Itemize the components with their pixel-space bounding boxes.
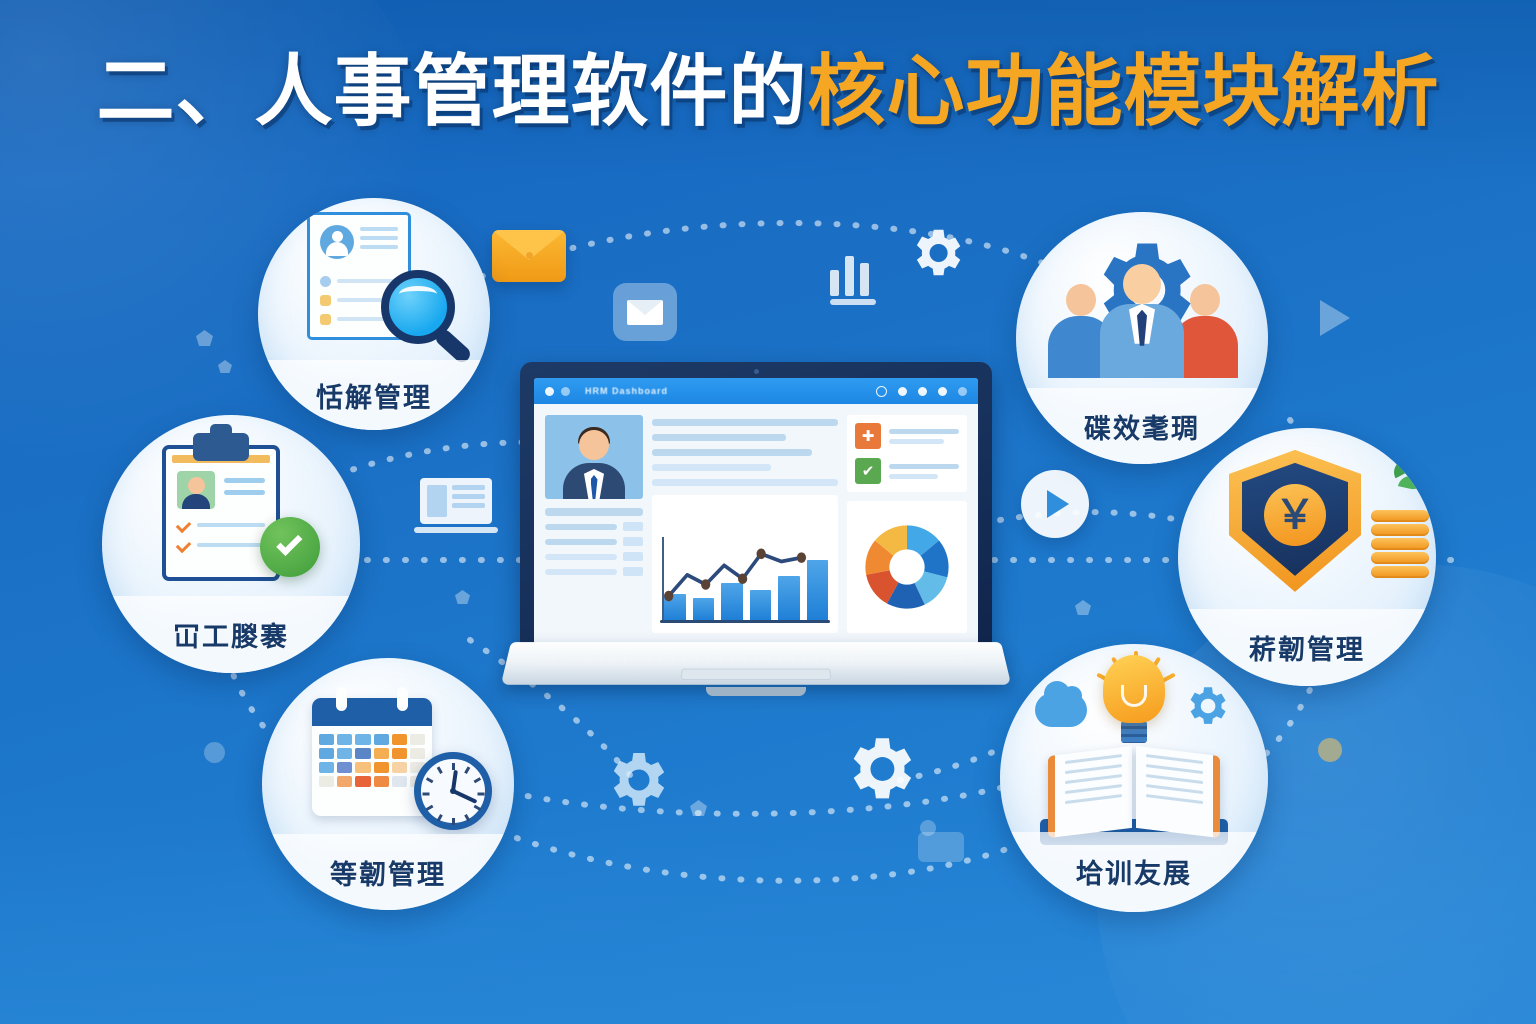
- calendar-cell: [392, 748, 407, 759]
- calendar-cell: [319, 734, 334, 745]
- detail-lines: [652, 415, 838, 486]
- triangle-icon: [1320, 300, 1350, 336]
- coins-icon: [1371, 510, 1429, 580]
- gear-icon: [838, 728, 920, 815]
- monitor-icon: [420, 478, 492, 533]
- pentagon-deco: [1075, 600, 1091, 615]
- calendar-cell: [337, 748, 352, 759]
- dashboard-main-column: [652, 415, 838, 633]
- laptop-screen: HRM Dashboard: [534, 378, 978, 644]
- titlebar-actions: [876, 386, 967, 397]
- calendar-cell: [374, 776, 389, 787]
- employee-avatar: [545, 415, 643, 499]
- bar-chart-icon: [830, 250, 876, 305]
- pie-chart: [847, 501, 967, 633]
- calendar-cell: [355, 776, 370, 787]
- page-title-gold: 核心功能模块解析: [808, 47, 1440, 135]
- calendar-cell: [374, 748, 389, 759]
- document-magnifier-icon: [258, 198, 490, 365]
- dot-deco: [204, 742, 225, 763]
- pentagon-deco: [690, 800, 707, 816]
- calendar-cell: [355, 748, 370, 759]
- status-row: ✔: [855, 458, 959, 484]
- module-bubble-employee-records[interactable]: 冚工朡褰: [102, 415, 360, 673]
- dashboard-body: ✚ ✔: [534, 404, 978, 644]
- calendar-cell: [337, 776, 352, 787]
- profile-fields: [545, 508, 643, 576]
- calendar-cell: [337, 762, 352, 773]
- cloud-icon: [1035, 693, 1087, 727]
- calendar-cell: [355, 734, 370, 745]
- pentagon-deco: [455, 590, 470, 604]
- envelope-solid-icon: [492, 230, 566, 282]
- laptop-foot: [706, 687, 806, 696]
- infographic-canvas: 二、人事管理软件的核心功能模块解析: [0, 0, 1536, 1024]
- clock-icon: [414, 752, 492, 830]
- check-badge-icon: [260, 517, 320, 577]
- gear-icon: [905, 222, 967, 289]
- window-dot[interactable]: [918, 387, 927, 396]
- module-bubble-attendance[interactable]: 等韌管理: [262, 658, 514, 910]
- calendar-clock-icon: [262, 658, 514, 839]
- calendar-cell: [392, 762, 407, 773]
- calendar-cell: [392, 734, 407, 745]
- shield-yen-coins-icon: ￥: [1178, 428, 1436, 614]
- page-title: 二、人事管理软件的核心功能模块解析: [0, 52, 1536, 130]
- trackpad[interactable]: [681, 669, 831, 680]
- window-dot[interactable]: [958, 387, 967, 396]
- dot-deco: [1318, 738, 1342, 762]
- window-dot[interactable]: [898, 387, 907, 396]
- window-dot: [561, 387, 570, 396]
- status-card: ✚ ✔: [847, 415, 967, 492]
- calendar-cell: [319, 776, 334, 787]
- clipboard-check-icon: [102, 415, 360, 601]
- module-bubble-recruitment[interactable]: 恬解管理: [258, 198, 490, 430]
- window-dot: [545, 387, 554, 396]
- calendar-cell: [337, 734, 352, 745]
- calendar-cell: [410, 748, 425, 759]
- laptop-mockup: HRM Dashboard: [506, 362, 1006, 722]
- pentagon-deco: [196, 330, 213, 346]
- module-label: 垥训友展: [1000, 832, 1268, 912]
- trend-line: [662, 525, 830, 621]
- background-band-bottom: [0, 804, 1536, 1024]
- dashboard-profile-column: [545, 415, 643, 633]
- pin-icon: ✚: [855, 423, 881, 449]
- calendar-cell: [374, 762, 389, 773]
- webcam-icon: [754, 369, 759, 374]
- module-bubble-performance[interactable]: 碟效耄琱: [1016, 212, 1268, 464]
- check-icon: ✔: [855, 458, 881, 484]
- lightbulb-icon: [1103, 655, 1165, 743]
- keyboard[interactable]: [539, 647, 972, 666]
- window-dot[interactable]: [938, 387, 947, 396]
- dashboard-side-column: ✚ ✔: [847, 415, 967, 633]
- team-gear-icon: [1016, 212, 1268, 393]
- rounded-square-deco: [918, 832, 964, 862]
- gear-icon: [600, 744, 672, 821]
- settings-icon[interactable]: [876, 386, 887, 397]
- calendar-cell: [392, 776, 407, 787]
- app-window-titlebar: HRM Dashboard: [534, 378, 978, 404]
- pentagon-deco: [218, 360, 232, 373]
- window-title: HRM Dashboard: [585, 386, 668, 396]
- bar-chart: [652, 495, 838, 633]
- module-label: 等韌管理: [262, 834, 514, 910]
- calendar-cell: [319, 762, 334, 773]
- yen-symbol: ￥: [1264, 484, 1326, 546]
- laptop-lid: HRM Dashboard: [520, 362, 992, 658]
- status-row: ✚: [855, 423, 959, 449]
- calendar-cell: [355, 762, 370, 773]
- laptop-base: [501, 642, 1011, 685]
- calendar-cell: [319, 748, 334, 759]
- calendar-cell: [374, 734, 389, 745]
- avatar: [1100, 264, 1184, 378]
- book-lightbulb-icon: [1000, 644, 1268, 837]
- module-bubble-training[interactable]: 垥训友展: [1000, 644, 1268, 912]
- gear-icon: [1181, 681, 1231, 736]
- donut-svg: [855, 515, 959, 619]
- page-title-white: 二、人事管理软件的: [96, 47, 807, 135]
- calendar-cell: [410, 734, 425, 745]
- envelope-tile-icon: [613, 283, 677, 341]
- play-button-icon[interactable]: [1021, 470, 1089, 538]
